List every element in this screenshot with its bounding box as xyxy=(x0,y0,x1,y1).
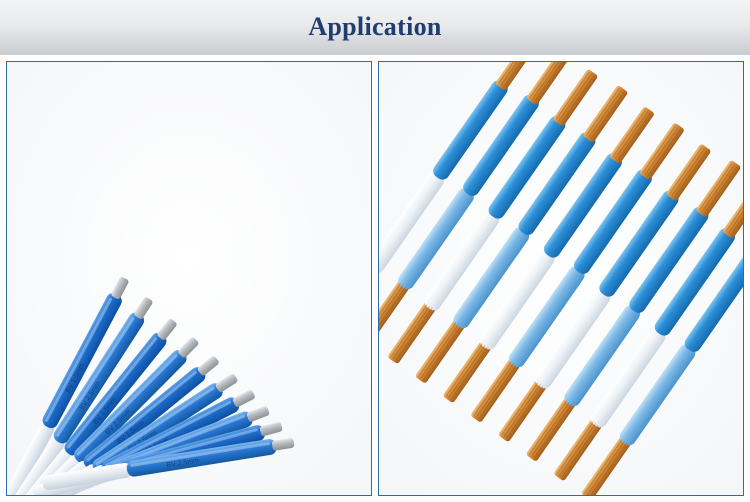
right-photo-panel: Row of blue and white insulated wires wi… xyxy=(378,61,744,496)
right-wire-illustration xyxy=(379,62,743,495)
left-wire-illustration: BV 1.5mm BV 2.5mm xyxy=(7,62,371,495)
application-image-page: Application xyxy=(0,0,750,502)
left-photo-panel: BV 1.5mm BV 2.5mm xyxy=(6,61,372,496)
page-title: Application xyxy=(308,14,441,42)
right-wire-photo xyxy=(379,62,743,495)
left-wire-photo: BV 1.5mm BV 2.5mm xyxy=(7,62,371,495)
application-banner: Application xyxy=(0,0,750,56)
photo-panels: BV 1.5mm BV 2.5mm xyxy=(0,55,750,502)
